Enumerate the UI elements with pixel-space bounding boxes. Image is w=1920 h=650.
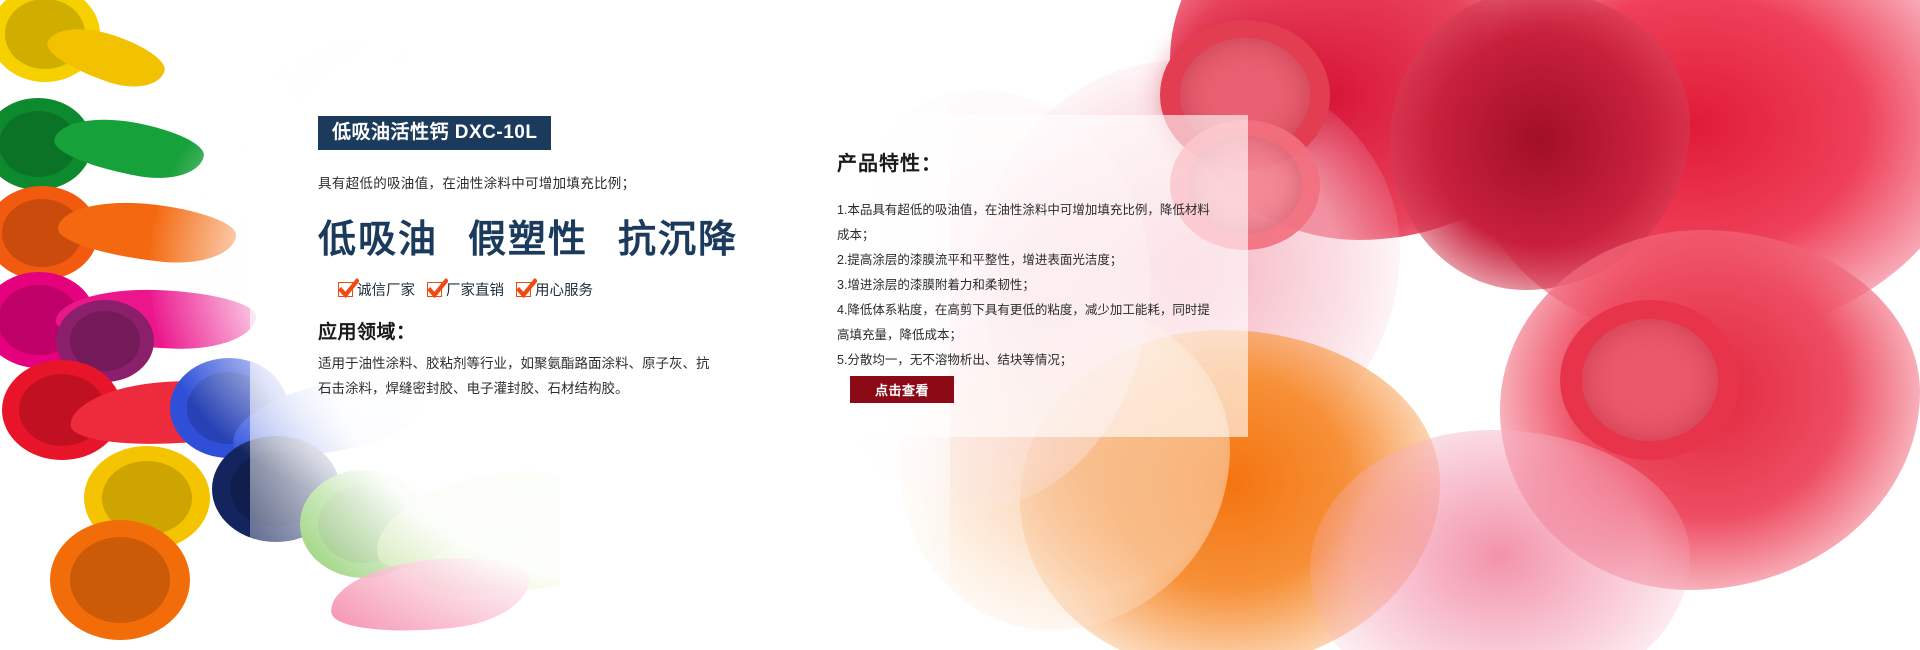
keyword-2: 假塑性 bbox=[468, 208, 588, 263]
left-content-block: 低吸油活性钙 DXC-10L 具有超低的吸油值，在油性涂料中可增加填充比例； 低… bbox=[318, 116, 738, 402]
trust-badge-3-label: 用心服务 bbox=[535, 279, 593, 300]
trust-badge-1-label: 诚信厂家 bbox=[357, 279, 415, 300]
product-title-badge: 低吸油活性钙 DXC-10L bbox=[318, 116, 551, 150]
feature-item: 4.降低体系粘度，在高剪下具有更低的粘度，减少加工能耗，同时提高填充量，降低成本… bbox=[837, 298, 1218, 348]
paint-ring-red-lower bbox=[1560, 300, 1740, 460]
trust-badge-2: 厂家直销 bbox=[427, 279, 504, 300]
features-list: 1.本品具有超低的吸油值，在油性涂料中可增加填充比例，降低材料成本； 2.提高涂… bbox=[837, 198, 1218, 373]
feature-item: 1.本品具有超低的吸油值，在油性涂料中可增加填充比例，降低材料成本； bbox=[837, 198, 1218, 248]
check-icon bbox=[427, 282, 442, 297]
product-subtitle: 具有超低的吸油值，在油性涂料中可增加填充比例； bbox=[318, 172, 738, 192]
application-heading: 应用领域： bbox=[318, 317, 738, 344]
trust-badge-1: 诚信厂家 bbox=[338, 279, 415, 300]
features-panel-title: 产品特性： bbox=[837, 147, 1218, 176]
check-icon bbox=[516, 282, 531, 297]
keyword-1: 低吸油 bbox=[318, 208, 438, 263]
keyword-3: 抗沉降 bbox=[618, 208, 738, 263]
view-details-button[interactable]: 点击查看 bbox=[850, 376, 954, 403]
feature-item: 3.增进涂层的漆膜附着力和柔韧性； bbox=[837, 273, 1218, 298]
product-banner: 低吸油活性钙 DXC-10L 具有超低的吸油值，在油性涂料中可增加填充比例； 低… bbox=[0, 0, 1920, 650]
trust-badge-2-label: 厂家直销 bbox=[446, 279, 504, 300]
feature-item: 5.分散均一，无不溶物析出、结块等情况； bbox=[837, 348, 1218, 373]
feature-item: 2.提高涂层的漆膜流平和平整性，增进表面光洁度； bbox=[837, 248, 1218, 273]
application-body: 适用于油性涂料、胶粘剂等行业，如聚氨酯路面涂料、原子灰、抗石击涂料，焊缝密封胶、… bbox=[318, 352, 718, 402]
paint-pot-orange-bottom bbox=[50, 520, 190, 640]
check-icon bbox=[338, 282, 353, 297]
trust-badges: 诚信厂家 厂家直销 用心服务 bbox=[318, 279, 738, 300]
trust-badge-3: 用心服务 bbox=[516, 279, 593, 300]
product-keywords: 低吸油 假塑性 抗沉降 bbox=[318, 208, 738, 263]
